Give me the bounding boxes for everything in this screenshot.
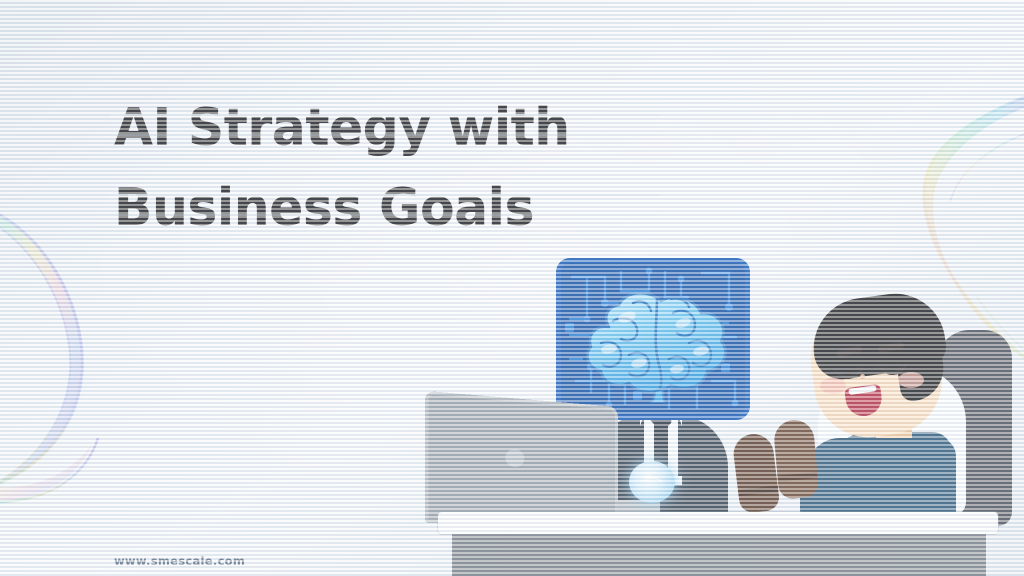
slide-canvas: AI Strategy with Business Goals www.smes…: [0, 0, 1024, 576]
title-line-2: Business Goals: [114, 168, 657, 248]
footer-website-url[interactable]: www.smescale.com: [114, 554, 245, 568]
sleeping-man-shoe-back: [731, 432, 780, 514]
ai-glowing-hand: [629, 461, 675, 503]
desk-front-panel: [452, 532, 986, 576]
page-title: AI Strategy with Business Goals: [114, 88, 674, 248]
sleeping-man-nose: [860, 374, 865, 379]
desk-surface: [438, 512, 998, 534]
laptop-screen-lid: [425, 391, 618, 523]
title-line-1: AI Strategy with: [114, 88, 657, 168]
laptop-logo: [505, 448, 524, 467]
sleeping-man-cheek-left: [820, 378, 846, 394]
sleeping-man-shoe-front: [773, 418, 820, 499]
ai-monitor-head: [556, 258, 750, 420]
sleeping-man-cheek-right: [898, 372, 924, 388]
illustration-scene: [0, 0, 1024, 576]
brain-icon: [579, 283, 737, 403]
